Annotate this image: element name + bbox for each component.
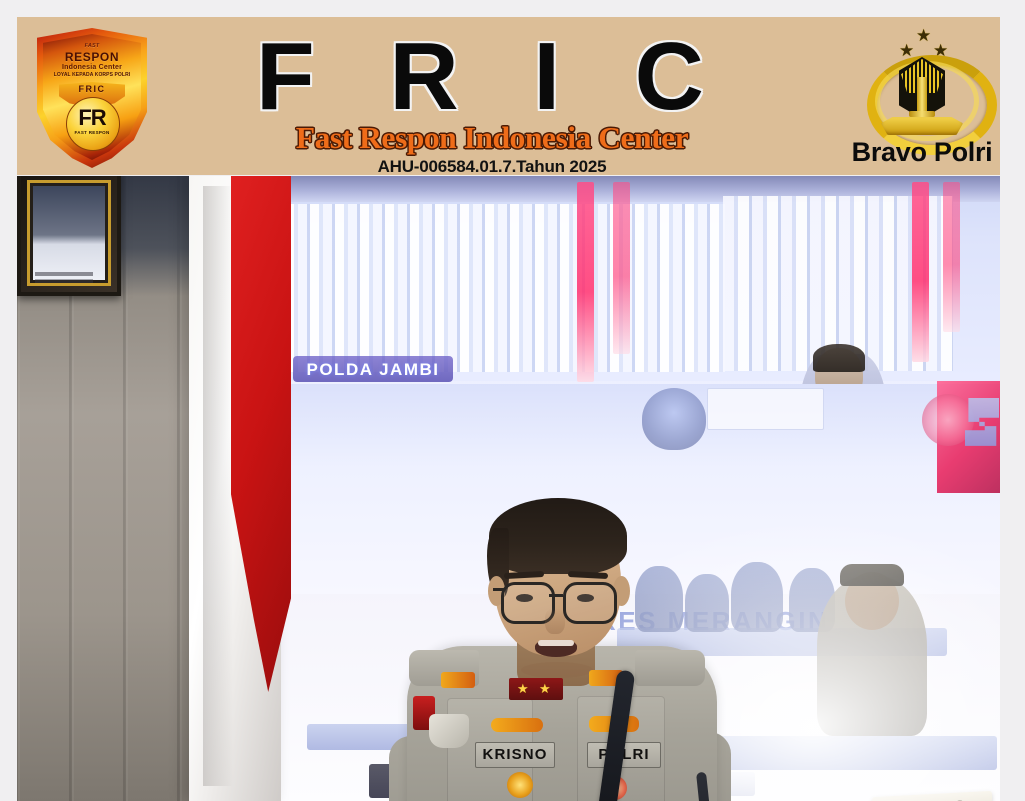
logo-fr-monogram: FR: [66, 107, 118, 129]
page-title: F R I C: [167, 29, 817, 125]
nametag-surname: KRISNO: [475, 742, 555, 768]
glasses-right-lens: [563, 582, 617, 624]
speaker-nose: [545, 608, 565, 634]
logo-text-loyal: LOYAL KEPADA KORPS POLRI: [33, 73, 151, 78]
registration-id: AHU-006584.01.7.Tahun 2025: [167, 157, 817, 175]
logo-text-respon: RESPON: [33, 51, 151, 63]
emblem-torch-base-icon: [909, 111, 935, 117]
uniform-badge-upper-left: [441, 672, 475, 688]
emblem-torch-icon: [917, 77, 927, 113]
speaker-right-shoulder: [635, 650, 705, 686]
header-banner: FAST RESPON Indonesia Center LOYAL KEPAD…: [17, 17, 1000, 175]
page-subtitle: Fast Respon Indonesia Center: [161, 122, 824, 153]
uniform-shoulder-patch: [429, 714, 469, 748]
banner-title-block: F R I C Fast Respon Indonesia Center AHU…: [167, 17, 817, 175]
poster-root: FAST RESPON Indonesia Center LOYAL KEPAD…: [0, 0, 1025, 801]
rank-insignia: ★ ★: [509, 678, 563, 700]
framed-portrait: [17, 176, 121, 296]
glasses-temple-arm: [493, 588, 505, 591]
speaker-hair: [489, 498, 627, 574]
emblem-scroll-icon: [881, 117, 963, 135]
star-icon-top: ★: [916, 27, 931, 44]
fric-shield-logo: FAST RESPON Indonesia Center LOYAL KEPAD…: [33, 22, 151, 172]
glasses-bridge: [549, 594, 563, 597]
logo-text-center: Indonesia Center: [33, 64, 151, 71]
speaker-teeth: [538, 640, 574, 646]
uniform-ribbon-left: [491, 718, 543, 732]
flag-fold-shadow: [203, 186, 233, 786]
bravo-polri-caption: Bravo Polri: [832, 137, 1000, 168]
logo-fr-monogram-sub: FAST RESPON: [66, 130, 118, 135]
rank-star-icon-2: ★: [539, 682, 551, 695]
portrait-image: [33, 186, 105, 280]
portrait-caption: [35, 272, 93, 276]
uniform-round-badge-left: [507, 772, 533, 798]
press-briefing-photo: POLDA JAMBI RES MERANGIN POLRES M KABAG: [17, 176, 1000, 801]
logo-text-fast: FAST: [33, 44, 151, 50]
rank-star-icon-1: ★: [517, 682, 529, 695]
polri-tribrata-emblem: ★ ★ ★ Bravo Polri: [837, 25, 1000, 173]
speaker-chin-shadow: [521, 662, 593, 678]
logo-text-fric: FRIC: [33, 85, 151, 94]
